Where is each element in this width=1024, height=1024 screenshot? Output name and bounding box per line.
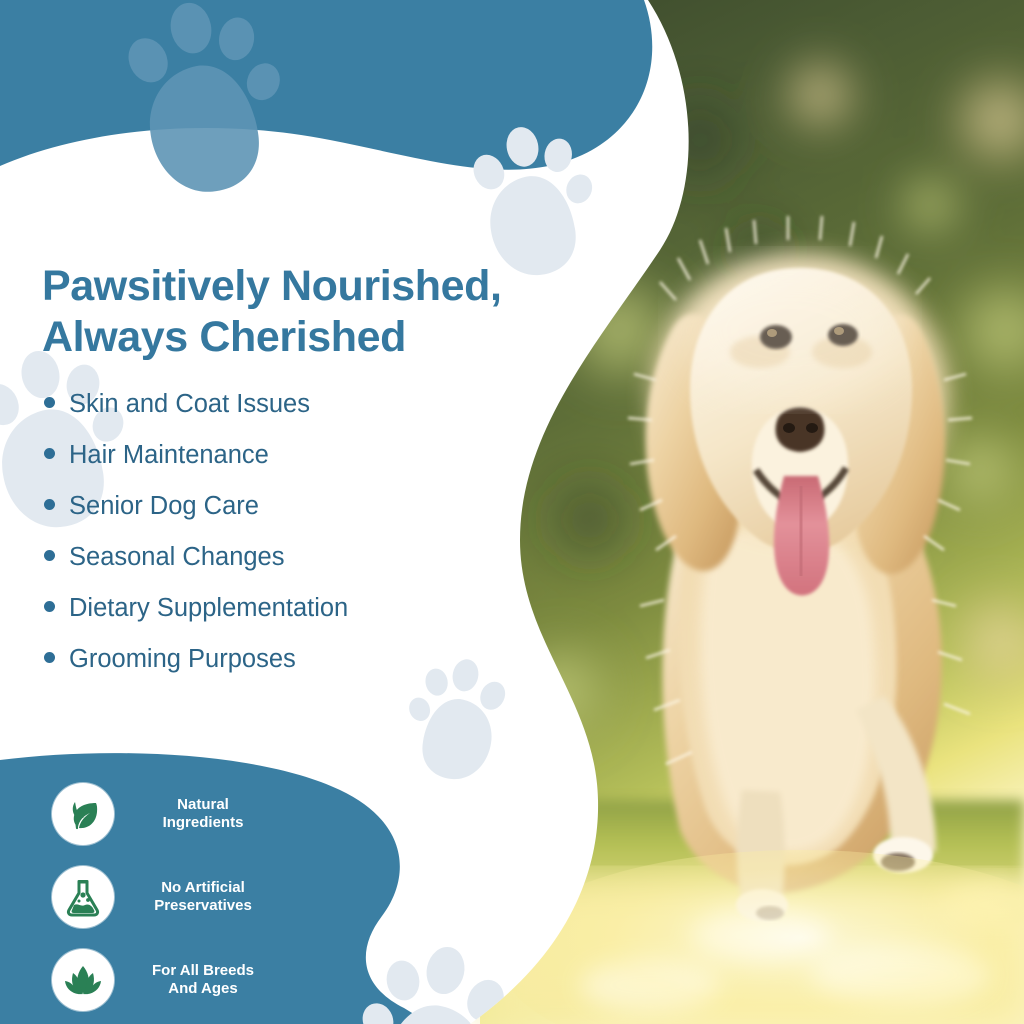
bullet-dot-icon [44, 652, 55, 663]
list-item: Dietary Supplementation [44, 596, 474, 622]
headline-line-1: Pawsitively Nourished, [42, 262, 502, 310]
benefits-list: Skin and Coat Issues Hair Maintenance Se… [44, 392, 474, 698]
badge-label-line-1: Natural [133, 796, 273, 814]
badge-natural-ingredients: Natural Ingredients [52, 778, 273, 850]
headline-line-2: Always Cherished [42, 312, 512, 363]
list-item: Seasonal Changes [44, 545, 474, 571]
list-item: Skin and Coat Issues [44, 392, 474, 418]
badge-label-line-2: And Ages [133, 980, 273, 998]
list-item-label: Seasonal Changes [69, 545, 285, 571]
promo-banner: Pawsitively Nourished, Always Cherished … [0, 0, 1024, 1024]
badge-label-line-1: No Artificial [133, 879, 273, 897]
list-item: Hair Maintenance [44, 443, 474, 469]
badge-no-artificial-preservatives: No Artificial Preservatives [52, 861, 273, 933]
badge-label-line-1: For All Breeds [133, 962, 273, 980]
badge-label: Natural Ingredients [133, 796, 273, 833]
list-item: Grooming Purposes [44, 647, 474, 673]
list-item-label: Grooming Purposes [69, 647, 296, 673]
bullet-dot-icon [44, 601, 55, 612]
bullet-dot-icon [44, 499, 55, 510]
feature-badges: Natural Ingredients No Artifi [52, 778, 273, 1024]
lotus-icon [52, 949, 114, 1011]
bullet-dot-icon [44, 448, 55, 459]
badge-label: For All Breeds And Ages [133, 962, 273, 999]
list-item-label: Dietary Supplementation [69, 596, 348, 622]
bullet-dot-icon [44, 550, 55, 561]
badge-label-line-2: Ingredients [133, 814, 273, 832]
list-item-label: Skin and Coat Issues [69, 392, 310, 418]
badge-label: No Artificial Preservatives [133, 879, 273, 916]
list-item-label: Senior Dog Care [69, 494, 259, 520]
leaf-icon [52, 783, 114, 845]
badge-for-all-breeds-and-ages: For All Breeds And Ages [52, 944, 273, 1016]
list-item: Senior Dog Care [44, 494, 474, 520]
list-item-label: Hair Maintenance [69, 443, 269, 469]
flask-icon [52, 866, 114, 928]
badge-label-line-2: Preservatives [133, 897, 273, 915]
page-title: Pawsitively Nourished, Always Cherished [42, 261, 512, 362]
bullet-dot-icon [44, 397, 55, 408]
